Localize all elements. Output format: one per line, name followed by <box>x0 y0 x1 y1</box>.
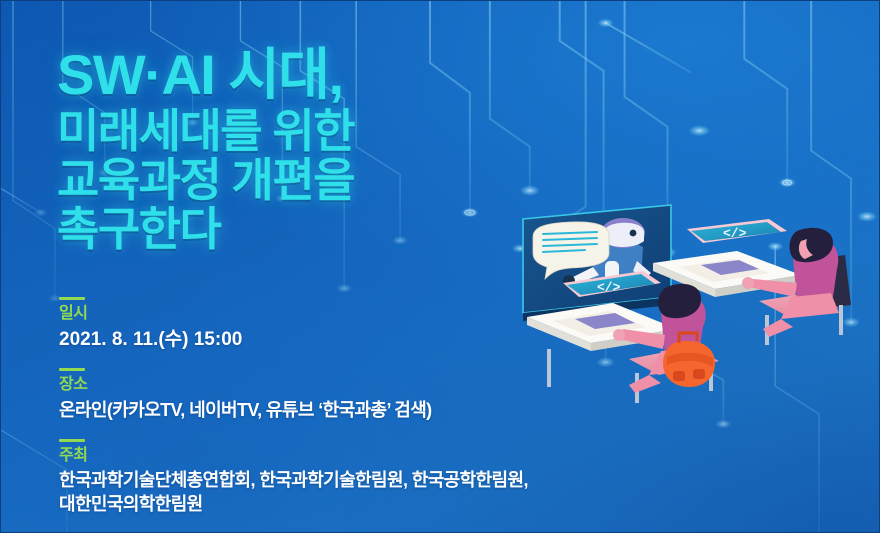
headline-line-1: SW·AI 시대, <box>57 47 354 103</box>
svg-text:</>: </> <box>597 280 621 295</box>
info-value-host-line-2: 대한민국의학한림원 <box>59 493 528 517</box>
info-group-venue: 장소 온라인(카카오TV, 네이버TV, 유튜브 ‘한국과총’ 검색) <box>59 368 528 422</box>
info-value-venue: 온라인(카카오TV, 네이버TV, 유튜브 ‘한국과총’ 검색) <box>59 399 528 423</box>
label-rule-icon <box>59 297 85 300</box>
poster-canvas: </> <box>0 0 880 533</box>
headline-line-3: 교육과정 개편을 <box>57 157 354 203</box>
event-info-block: 일시 2021. 8. 11.(수) 15:00 장소 온라인(카카오TV, 네… <box>59 297 528 517</box>
info-label-datetime: 일시 <box>59 305 528 323</box>
info-group-datetime: 일시 2021. 8. 11.(수) 15:00 <box>59 297 528 352</box>
headline-line-4: 촉구한다 <box>57 206 354 252</box>
headline-line-2: 미래세대를 위한 <box>57 108 354 154</box>
label-rule-icon <box>59 439 85 442</box>
svg-text:</>: </> <box>723 226 747 241</box>
classroom-ai-illustration: </> <box>501 201 880 431</box>
info-label-venue: 장소 <box>59 376 528 394</box>
label-rule-icon <box>59 368 85 371</box>
info-value-host-line-1: 한국과학기술단체총연합회, 한국과학기술한림원, 한국공학한림원, <box>59 469 528 493</box>
info-group-host: 주최 한국과학기술단체총연합회, 한국과학기술한림원, 한국공학한림원, 대한민… <box>59 439 528 517</box>
info-value-datetime: 2021. 8. 11.(수) 15:00 <box>59 327 528 352</box>
info-label-host: 주최 <box>59 447 528 465</box>
poster-headline: SW·AI 시대, 미래세대를 위한 교육과정 개편을 촉구한다 <box>57 47 354 252</box>
laptop: </> <box>687 219 787 243</box>
